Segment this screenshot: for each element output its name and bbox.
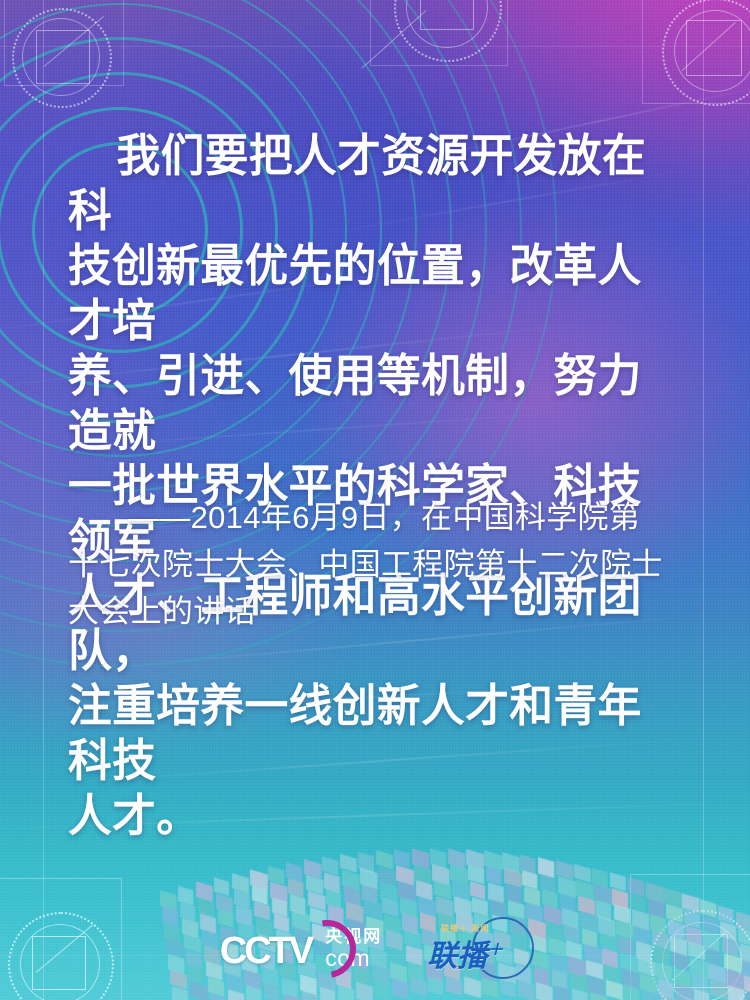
lianbo-plus-logo[interactable]: 联播＋ 新闻 联播＋ <box>400 919 530 977</box>
attribution-text: ——2014年6月9日，在中国科学院第 十七次院士大会、中国工程院第十二次院士 … <box>68 494 684 635</box>
circle-square-motif-top-center <box>390 0 510 70</box>
lianbo-main-text: 联播 <box>427 940 487 973</box>
attribution-line: ——2014年6月9日，在中国科学院第 <box>128 500 640 535</box>
poster-canvas: 我们要把人才资源开发放在科 技创新最优先的位置，改革人才培 养、引进、使用等机制… <box>0 0 750 1000</box>
cctv-logo[interactable]: CCTV 央视网 com <box>220 926 382 970</box>
quote-line: 我们要把人才资源开发放在科 <box>68 130 646 236</box>
logo-bar: CCTV 央视网 com 联播＋ 新闻 联播＋ <box>0 918 750 978</box>
circle-square-motif-top-right <box>660 0 750 116</box>
quote-line: 养、引进、使用等机制，努力造就 <box>68 350 642 456</box>
attribution-line: 大会上的讲话 <box>68 594 256 629</box>
lianbo-wordmark: 联播＋ <box>427 935 503 973</box>
lianbo-top-label: 联播＋ 新闻 <box>441 923 489 934</box>
circle-square-motif-top-left <box>8 4 118 114</box>
quote-line: 人才。 <box>68 790 200 841</box>
quote-text: 我们要把人才资源开发放在科 技创新最优先的位置，改革人才培 养、引进、使用等机制… <box>68 128 666 843</box>
quote-line: 技创新最优先的位置，改革人才培 <box>68 240 642 346</box>
cctv-swoosh-icon <box>286 909 367 990</box>
lianbo-plus-glyph: ＋ <box>487 942 503 959</box>
attribution-line: 十七次院士大会、中国工程院第十二次院士 <box>68 547 663 582</box>
quote-line: 注重培养一线创新人才和青年科技 <box>68 680 642 786</box>
